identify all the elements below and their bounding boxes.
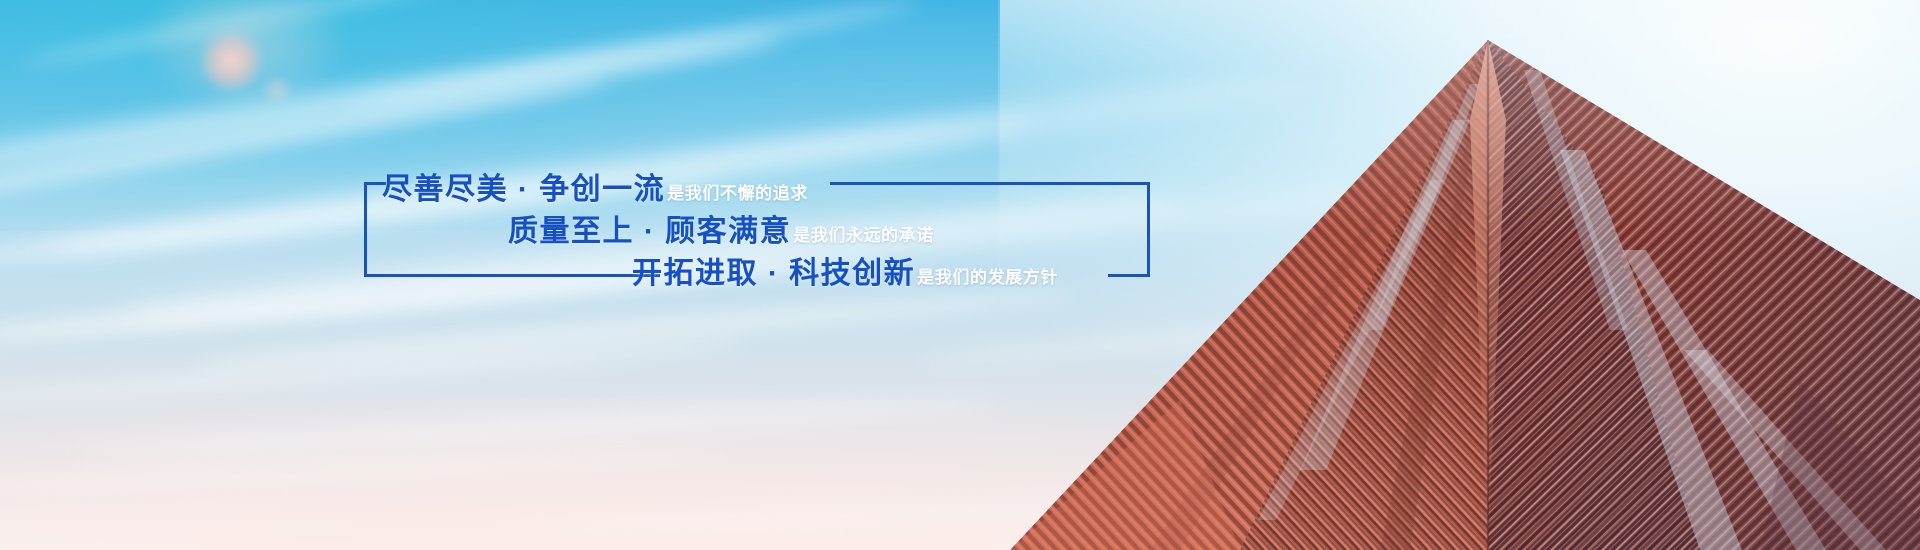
slogan-lead: 尽善尽美 · 争创一流 bbox=[382, 164, 665, 208]
slogan-tail: 是我们的发展方针 bbox=[917, 263, 1058, 288]
bracket-right-vertical bbox=[1147, 182, 1150, 277]
slogan-line-2: 质量至上 · 顾客满意 是我们永远的承诺 bbox=[508, 206, 934, 250]
bracket-top-horizontal bbox=[830, 182, 1150, 185]
slogan-lead: 质量至上 · 顾客满意 bbox=[508, 206, 791, 250]
sky-warm-glow bbox=[0, 396, 1440, 550]
bracket-bottom-horizontal bbox=[364, 274, 660, 277]
bracket-left-vertical bbox=[364, 182, 367, 277]
lens-flare-icon bbox=[202, 32, 260, 90]
slogan-line-1: 尽善尽美 · 争创一流 是我们不懈的追求 bbox=[382, 164, 808, 208]
hero-banner: 尽善尽美 · 争创一流 是我们不懈的追求 质量至上 · 顾客满意 是我们永远的承… bbox=[0, 0, 1920, 550]
slogan-tail: 是我们不懈的追求 bbox=[667, 179, 808, 204]
slogan-tail: 是我们永远的承诺 bbox=[793, 221, 934, 246]
bracket-bottom-right-stub bbox=[1108, 274, 1150, 277]
slogan-lead: 开拓进取 · 科技创新 bbox=[632, 248, 915, 292]
slogan-line-3: 开拓进取 · 科技创新 是我们的发展方针 bbox=[632, 248, 1058, 292]
slogan-block: 尽善尽美 · 争创一流 是我们不懈的追求 质量至上 · 顾客满意 是我们永远的承… bbox=[360, 140, 1160, 290]
lens-flare-ghost bbox=[262, 78, 292, 102]
